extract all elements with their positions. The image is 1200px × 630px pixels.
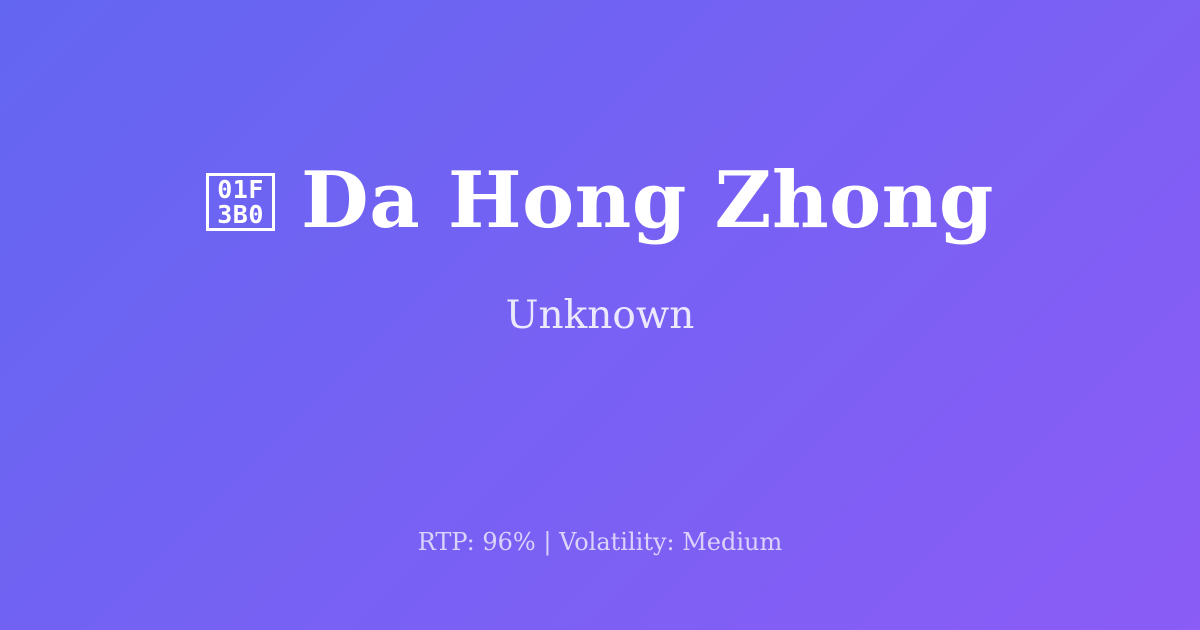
rtp-label: RTP: xyxy=(418,528,483,557)
slot-machine-icon: 01F 3B0 xyxy=(206,173,275,231)
footer-meta: RTP: 96% | Volatility: Medium xyxy=(0,528,1200,557)
tofu-codepoint-line-2: 3B0 xyxy=(217,202,264,227)
page-subtitle: Unknown xyxy=(506,293,695,340)
tofu-codepoint-line-1: 01F xyxy=(217,177,264,202)
og-card: 01F 3B0 Da Hong Zhong Unknown RTP: 96% |… xyxy=(0,0,1200,630)
title-row: 01F 3B0 Da Hong Zhong xyxy=(206,160,994,241)
footer-separator: | xyxy=(536,528,559,557)
rtp-value: 96% xyxy=(482,528,535,557)
volatility-value: Medium xyxy=(682,528,782,557)
volatility-label: Volatility: xyxy=(559,528,682,557)
page-title: Da Hong Zhong xyxy=(301,160,994,241)
card-main-content: 01F 3B0 Da Hong Zhong Unknown xyxy=(0,0,1200,500)
